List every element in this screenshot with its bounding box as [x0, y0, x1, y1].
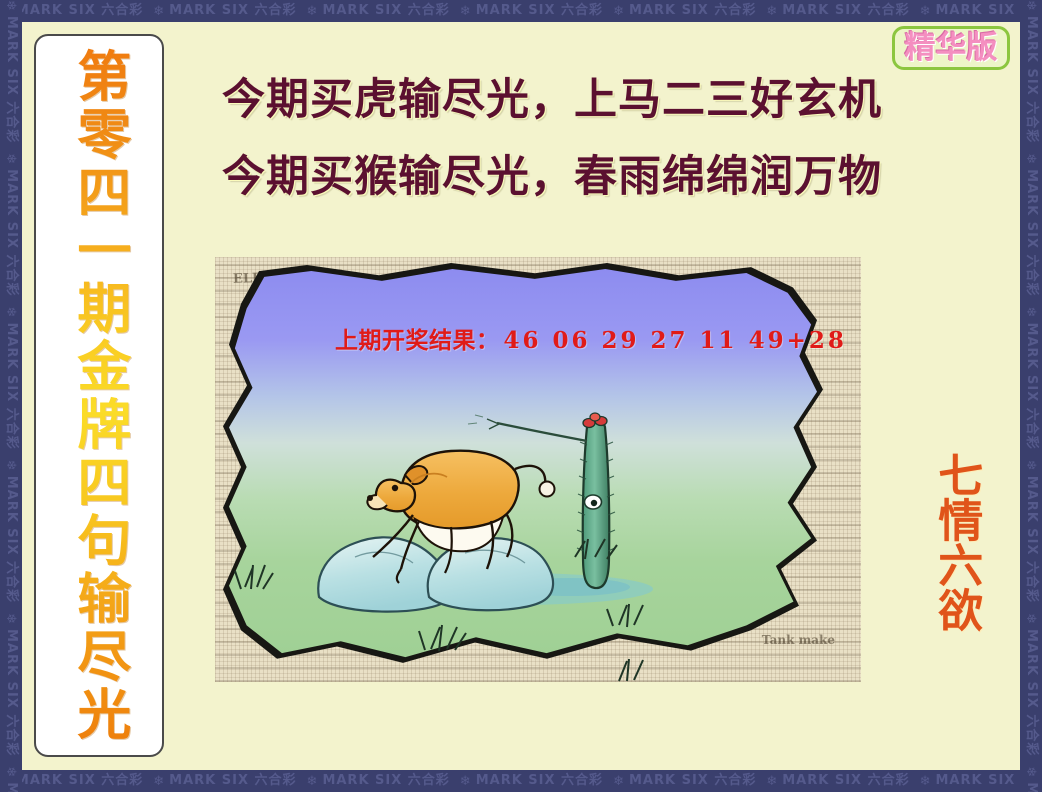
rocks	[318, 537, 553, 611]
watermark-border-right: ❄MARK SIX 六合彩❄MARK SIX 六合彩❄MARK SIX 六合彩❄…	[1020, 0, 1042, 792]
watermark-run-top: ❄MARK SIX 六合彩❄MARK SIX 六合彩❄MARK SIX 六合彩❄…	[0, 0, 1042, 22]
lottery-result-label: 上期开奖结果：	[335, 327, 500, 354]
illustration-panel: ELF CH 850 IN Tank make	[215, 257, 861, 682]
lottery-result-line: 上期开奖结果：46 06 29 27 11 49+28	[335, 321, 847, 355]
poster-root: ❄MARK SIX 六合彩❄MARK SIX 六合彩❄MARK SIX 六合彩❄…	[0, 0, 1042, 792]
couplet-line-2: 今期买猴输尽光，春雨绵绵润万物	[222, 151, 912, 205]
side-phrase-text: 七情六欲	[931, 452, 981, 632]
watermark-run-left: ❄MARK SIX 六合彩❄MARK SIX 六合彩❄MARK SIX 六合彩❄…	[0, 0, 22, 792]
watermark-run-right: ❄MARK SIX 六合彩❄MARK SIX 六合彩❄MARK SIX 六合彩❄…	[1020, 0, 1042, 792]
watermark-run-bottom: ❄MARK SIX 六合彩❄MARK SIX 六合彩❄MARK SIX 六合彩❄…	[0, 770, 1042, 792]
issue-title-vertical-text: 第零四一期金牌四句输尽光	[67, 48, 131, 744]
watermark-border-bottom: ❄MARK SIX 六合彩❄MARK SIX 六合彩❄MARK SIX 六合彩❄…	[0, 770, 1042, 792]
lottery-result-numbers: 46 06 29 27 11 49+28	[504, 327, 847, 354]
watermark-border-top: ❄MARK SIX 六合彩❄MARK SIX 六合彩❄MARK SIX 六合彩❄…	[0, 0, 1042, 22]
side-phrase: 七情六欲	[916, 452, 996, 636]
couplet-block: 今期买虎输尽光，上马二三好玄机 今期买猴输尽光，春雨绵绵润万物	[222, 74, 912, 205]
issue-title-panel: 第零四一期金牌四句输尽光	[34, 34, 164, 757]
couplet-line-1: 今期买虎输尽光，上马二三好玄机	[222, 74, 912, 128]
edition-badge: 精华版	[892, 26, 1010, 70]
edition-badge-label: 精华版	[905, 33, 998, 64]
watermark-border-left: ❄MARK SIX 六合彩❄MARK SIX 六合彩❄MARK SIX 六合彩❄…	[0, 0, 22, 792]
poster-canvas: 精华版 第零四一期金牌四句输尽光 今期买虎输尽光，上马二三好玄机 今期买猴输尽光…	[22, 22, 1020, 770]
